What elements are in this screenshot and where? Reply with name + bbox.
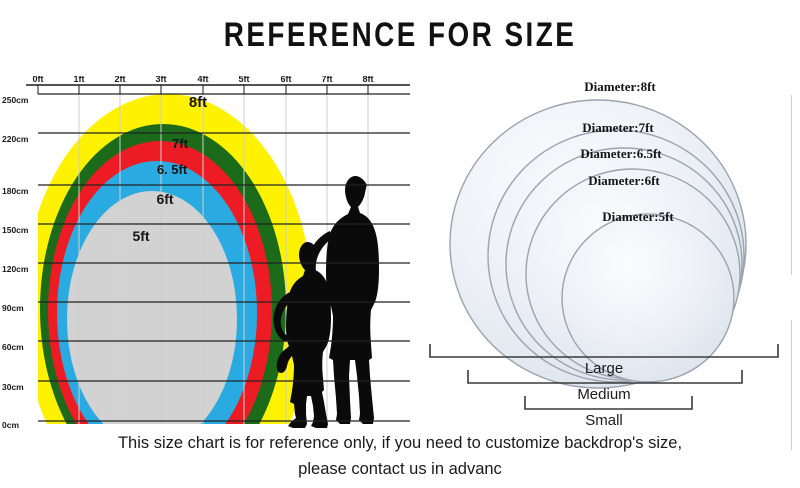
footer-note: This size chart is for reference only, i… — [30, 430, 770, 482]
right-edge-line-top — [791, 95, 792, 275]
x-tick-label: 0ft — [33, 76, 44, 84]
arc-label-8ft: 8ft — [189, 94, 207, 111]
y-tick-label: 180cm — [2, 186, 29, 196]
y-tick-label: 120cm — [2, 264, 29, 274]
y-tick-label: 30cm — [2, 382, 24, 392]
footer-line-1: This size chart is for reference only, i… — [30, 430, 770, 456]
x-tick-marks — [38, 85, 368, 94]
right-edge-line-bottom — [791, 320, 792, 450]
arc-label-7ft: 7ft — [172, 136, 189, 151]
x-tick-label: 2ft — [115, 76, 126, 84]
disc-label-5ft: Diameter:5ft — [602, 209, 674, 224]
x-tick-label: 1ft — [74, 76, 85, 84]
bracket-label-small: Small — [585, 412, 623, 429]
scale-chart: 0ft 1ft 2ft 3ft 4ft 5ft 6ft 7ft 8ft 250c… — [0, 76, 420, 428]
x-tick-labels: 0ft 1ft 2ft 3ft 4ft 5ft 6ft 7ft 8ft — [33, 76, 374, 84]
bracket-labels: Large Medium Small — [577, 360, 630, 429]
x-tick-label: 7ft — [322, 76, 333, 84]
diameter-circles-panel: Diameter:8ft Diameter:7ft Diameter:6.5ft… — [420, 58, 800, 430]
y-tick-label: 90cm — [2, 303, 24, 313]
disc-label-8ft: Diameter:8ft — [584, 79, 656, 94]
size-reference-chart: REFERENCE FOR SIZE — [0, 0, 800, 488]
x-tick-label: 5ft — [239, 76, 250, 84]
disc-stack — [450, 100, 746, 388]
y-tick-label: 220cm — [2, 134, 29, 144]
x-tick-label: 8ft — [363, 76, 374, 84]
arc-label-5ft: 5ft — [132, 228, 149, 244]
bracket-label-large: Large — [585, 360, 623, 377]
arc-label-6_5ft: 6. 5ft — [157, 162, 188, 177]
bracket-label-medium: Medium — [577, 386, 630, 403]
y-tick-labels: 250cm 220cm 180cm 150cm 120cm 90cm 60cm … — [2, 95, 29, 428]
y-tick-label: 60cm — [2, 342, 24, 352]
y-tick-label: 150cm — [2, 225, 29, 235]
y-tick-label: 0cm — [2, 420, 19, 428]
page-title: REFERENCE FOR SIZE — [72, 16, 728, 55]
y-tick-label: 250cm — [2, 95, 29, 105]
x-tick-label: 4ft — [198, 76, 209, 84]
disc-label-6ft: Diameter:6ft — [588, 173, 660, 188]
x-tick-label: 6ft — [281, 76, 292, 84]
x-tick-label: 3ft — [156, 76, 167, 84]
disc-label-7ft: Diameter:7ft — [582, 120, 654, 135]
footer-line-2: please contact us in advanc — [30, 456, 770, 482]
disc-label-6_5ft: Diameter:6.5ft — [580, 146, 662, 161]
arc-label-6ft: 6ft — [156, 191, 173, 207]
